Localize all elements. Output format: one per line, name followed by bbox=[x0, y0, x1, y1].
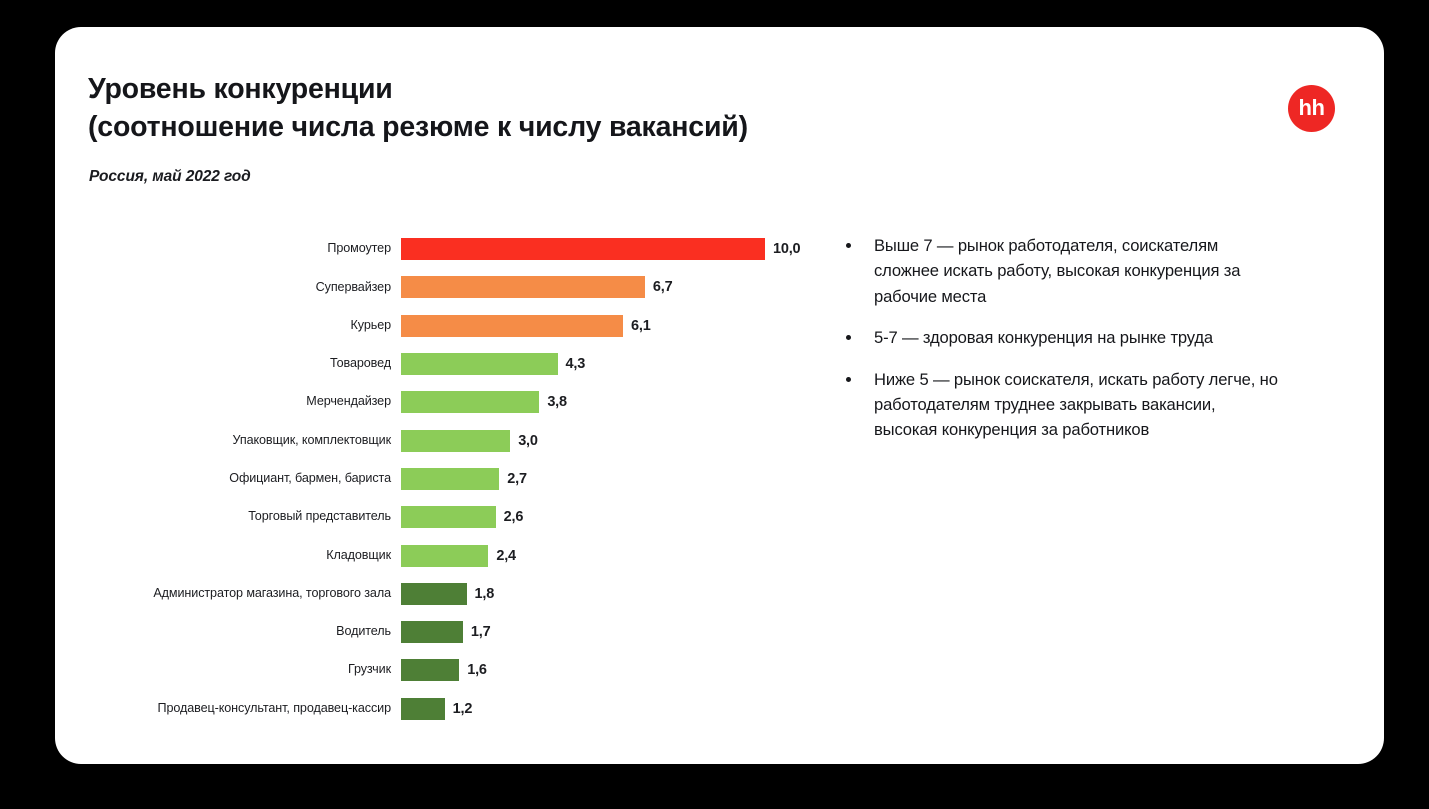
note-text: Выше 7 — рынок работодателя, соискателям… bbox=[874, 236, 1240, 306]
bar-fill bbox=[401, 698, 445, 720]
bar-track: 3,8 bbox=[401, 391, 835, 413]
bar-fill bbox=[401, 315, 623, 337]
bar-track: 2,6 bbox=[401, 506, 835, 528]
bar-fill bbox=[401, 430, 510, 452]
bar-category-label: Промоутер bbox=[75, 242, 401, 256]
bar-value-label: 3,8 bbox=[547, 394, 567, 410]
bar-track: 1,8 bbox=[401, 583, 835, 605]
bar-value-label: 1,6 bbox=[467, 662, 487, 678]
bar-fill bbox=[401, 583, 467, 605]
bar-track: 1,7 bbox=[401, 621, 835, 643]
bar-value-label: 1,7 bbox=[471, 624, 491, 640]
bar-track: 6,7 bbox=[401, 276, 835, 298]
bar-fill bbox=[401, 621, 463, 643]
bar-category-label: Товаровед bbox=[75, 357, 401, 371]
page-title: Уровень конкуренции (соотношение числа р… bbox=[88, 71, 1088, 146]
bar-row: Курьер6,1 bbox=[75, 307, 835, 345]
hh-logo: hh bbox=[1288, 85, 1335, 132]
bar-track: 1,6 bbox=[401, 659, 835, 681]
bar-fill bbox=[401, 468, 499, 490]
bar-value-label: 2,4 bbox=[496, 548, 516, 564]
bar-row: Водитель1,7 bbox=[75, 613, 835, 651]
note-text: 5-7 — здоровая конкуренция на рынке труд… bbox=[874, 328, 1213, 347]
bar-category-label: Упаковщик, комплектовщик bbox=[75, 434, 401, 448]
bar-value-label: 1,8 bbox=[475, 586, 495, 602]
bullet-icon bbox=[846, 335, 851, 340]
bar-track: 3,0 bbox=[401, 430, 835, 452]
bar-track: 6,1 bbox=[401, 315, 835, 337]
bar-track: 10,0 bbox=[401, 238, 835, 260]
bar-track: 2,4 bbox=[401, 545, 835, 567]
bar-chart: Промоутер10,0Супервайзер6,7Курьер6,1Това… bbox=[75, 230, 835, 730]
bar-fill bbox=[401, 238, 765, 260]
bar-value-label: 2,6 bbox=[504, 509, 524, 525]
bar-value-label: 2,7 bbox=[507, 471, 527, 487]
bar-track: 2,7 bbox=[401, 468, 835, 490]
bar-category-label: Кладовщик bbox=[75, 549, 401, 563]
bar-category-label: Торговый представитель bbox=[75, 510, 401, 524]
bar-category-label: Водитель bbox=[75, 625, 401, 639]
slide-card: Уровень конкуренции (соотношение числа р… bbox=[55, 27, 1384, 764]
bar-row: Супервайзер6,7 bbox=[75, 268, 835, 306]
note-item: 5-7 — здоровая конкуренция на рынке труд… bbox=[842, 325, 1282, 350]
bar-row: Торговый представитель2,6 bbox=[75, 498, 835, 536]
bar-category-label: Продавец-консультант, продавец-кассир bbox=[75, 702, 401, 716]
bar-row: Мерчендайзер3,8 bbox=[75, 383, 835, 421]
note-item: Ниже 5 — рынок соискателя, искать работу… bbox=[842, 367, 1282, 443]
bar-value-label: 1,2 bbox=[453, 701, 473, 717]
bar-track: 4,3 bbox=[401, 353, 835, 375]
page-subtitle: Россия, май 2022 год bbox=[89, 168, 251, 186]
note-item: Выше 7 — рынок работодателя, соискателям… bbox=[842, 233, 1282, 309]
bar-fill bbox=[401, 545, 488, 567]
bar-row: Упаковщик, комплектовщик3,0 bbox=[75, 421, 835, 459]
page-title-line-1: Уровень конкуренции bbox=[88, 71, 1088, 109]
bar-category-label: Официант, бармен, бариста bbox=[75, 472, 401, 486]
bullet-icon bbox=[846, 243, 851, 248]
bar-value-label: 6,7 bbox=[653, 279, 673, 295]
bar-row: Кладовщик2,4 bbox=[75, 536, 835, 574]
hh-logo-text: hh bbox=[1299, 97, 1325, 119]
bar-category-label: Курьер bbox=[75, 319, 401, 333]
bullet-icon bbox=[846, 377, 851, 382]
bar-row: Промоутер10,0 bbox=[75, 230, 835, 268]
bar-category-label: Супервайзер bbox=[75, 281, 401, 295]
bar-category-label: Грузчик bbox=[75, 663, 401, 677]
bar-row: Продавец-консультант, продавец-кассир1,2 bbox=[75, 690, 835, 728]
bar-value-label: 4,3 bbox=[566, 356, 586, 372]
bar-fill bbox=[401, 276, 645, 298]
bar-fill bbox=[401, 391, 539, 413]
note-text: Ниже 5 — рынок соискателя, искать работу… bbox=[874, 370, 1278, 440]
bar-value-label: 3,0 bbox=[518, 433, 538, 449]
bar-row: Товаровед4,3 bbox=[75, 345, 835, 383]
bar-fill bbox=[401, 506, 496, 528]
bar-value-label: 6,1 bbox=[631, 318, 651, 334]
bar-fill bbox=[401, 353, 558, 375]
bar-track: 1,2 bbox=[401, 698, 835, 720]
bar-row: Грузчик1,6 bbox=[75, 651, 835, 689]
bar-row: Официант, бармен, бариста2,7 bbox=[75, 460, 835, 498]
page-title-line-2: (соотношение числа резюме к числу ваканс… bbox=[88, 109, 1088, 147]
bar-fill bbox=[401, 659, 459, 681]
bar-value-label: 10,0 bbox=[773, 241, 800, 257]
bar-category-label: Администратор магазина, торгового зала bbox=[75, 587, 401, 601]
bar-category-label: Мерчендайзер bbox=[75, 395, 401, 409]
bar-row: Администратор магазина, торгового зала1,… bbox=[75, 575, 835, 613]
notes-list: Выше 7 — рынок работодателя, соискателям… bbox=[842, 233, 1282, 443]
slide-backdrop: Уровень конкуренции (соотношение числа р… bbox=[0, 0, 1429, 809]
